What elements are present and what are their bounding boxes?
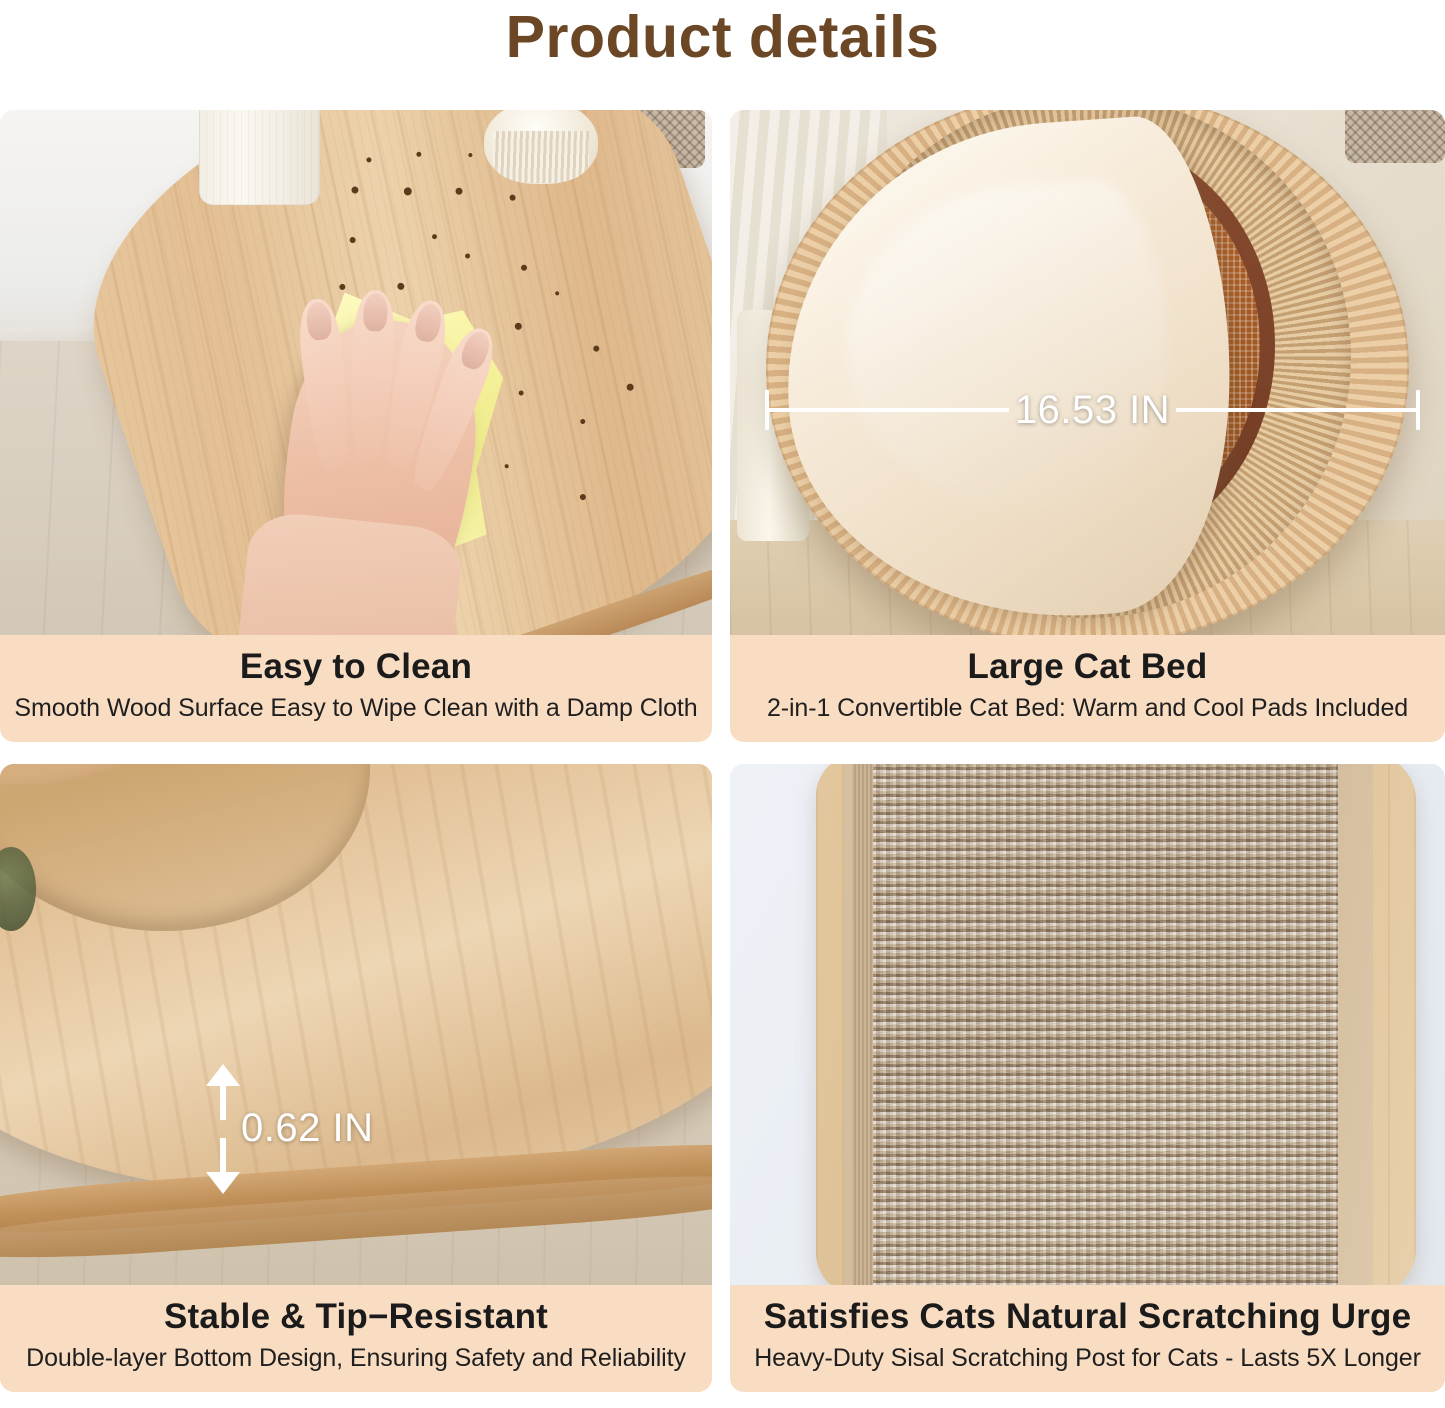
feature-card-stable-tip-resistant: 0.62 IN Stable & Tip−Resistant Double-la… (0, 764, 712, 1392)
caption-scratching-urge: Satisfies Cats Natural Scratching Urge H… (730, 1285, 1445, 1392)
photo-stable-tip-resistant: 0.62 IN (0, 764, 712, 1285)
caption-subtitle: Smooth Wood Surface Easy to Wipe Clean w… (8, 690, 704, 726)
feature-card-scratching-urge: Satisfies Cats Natural Scratching Urge H… (730, 764, 1445, 1392)
caption-subtitle: Heavy-Duty Sisal Scratching Post for Cat… (738, 1340, 1437, 1376)
photo-large-cat-bed: 16.53 IN (730, 110, 1445, 635)
pom-pom-toy (484, 110, 598, 184)
sisal-weave-surface (873, 764, 1338, 1285)
product-details-infographic: Product details (0, 0, 1445, 1408)
paper-towel-roll (199, 110, 320, 205)
caption-large-cat-bed: Large Cat Bed 2-in-1 Convertible Cat Bed… (730, 635, 1445, 742)
feature-card-easy-to-clean: Easy to Clean Smooth Wood Surface Easy t… (0, 110, 712, 742)
caption-stable-tip-resistant: Stable & Tip−Resistant Double-layer Bott… (0, 1285, 712, 1392)
caption-title: Large Cat Bed (738, 645, 1437, 689)
caption-subtitle: 2-in-1 Convertible Cat Bed: Warm and Coo… (738, 690, 1437, 726)
caption-title: Stable & Tip−Resistant (8, 1295, 704, 1339)
caption-subtitle: Double-layer Bottom Design, Ensuring Saf… (8, 1340, 704, 1376)
page-title: Product details (0, 2, 1445, 72)
caption-title: Easy to Clean (8, 645, 704, 689)
feature-card-large-cat-bed: 16.53 IN Large Cat Bed 2-in-1 Convertibl… (730, 110, 1445, 742)
caption-title: Satisfies Cats Natural Scratching Urge (738, 1295, 1437, 1339)
feature-card-grid: Easy to Clean Smooth Wood Surface Easy t… (0, 110, 1445, 1408)
caption-easy-to-clean: Easy to Clean Smooth Wood Surface Easy t… (0, 635, 712, 742)
photo-scratching-urge (730, 764, 1445, 1285)
photo-easy-to-clean (0, 110, 712, 635)
mesh-panel (1345, 110, 1445, 163)
